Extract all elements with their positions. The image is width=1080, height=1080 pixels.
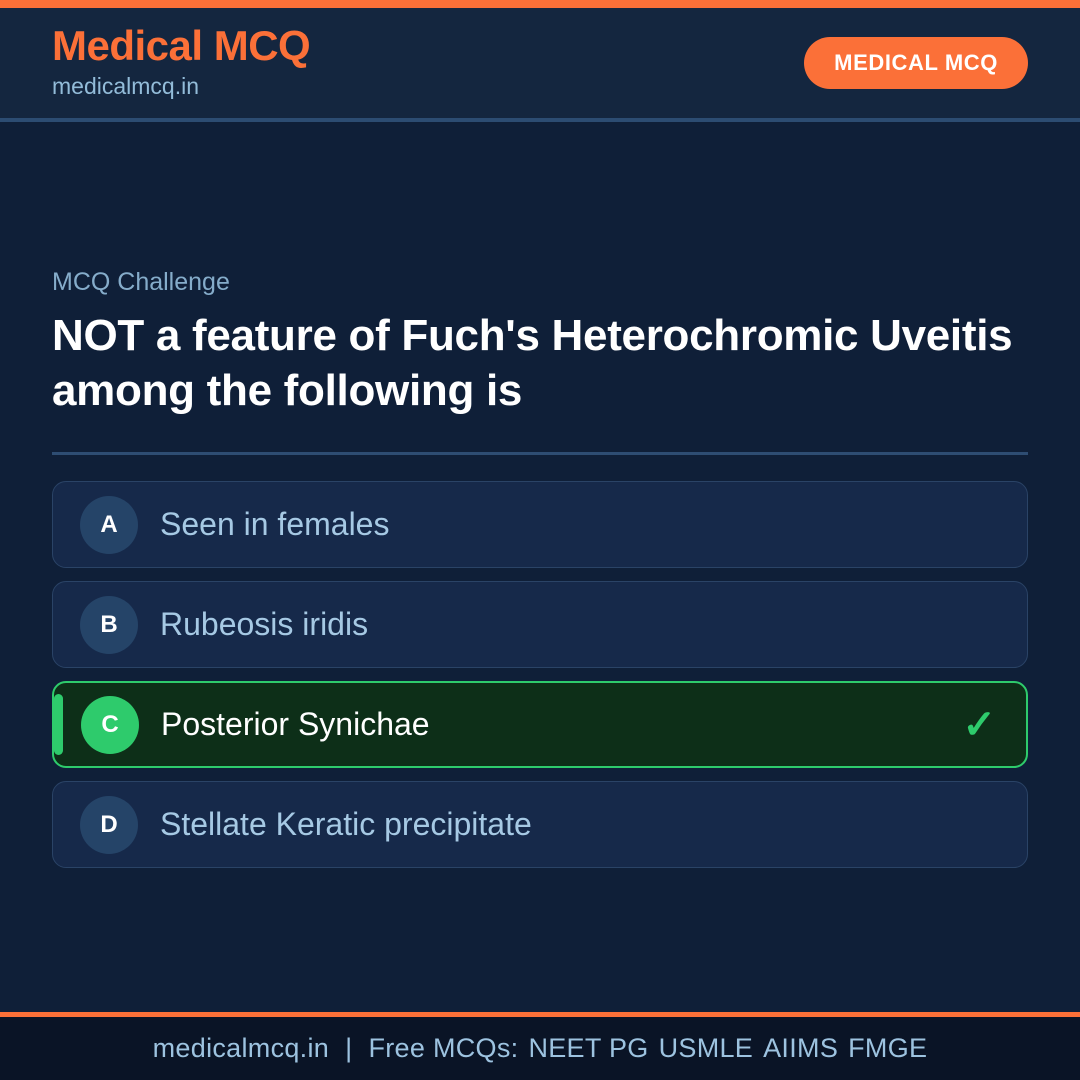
question-text: NOT a feature of Fuch's Heterochromic Uv… — [52, 309, 1027, 418]
option-c[interactable]: C Posterior Synichae ✓ — [52, 681, 1028, 768]
option-b-letter: B — [80, 596, 138, 654]
brand-block: Medical MCQ medicalmcq.in — [52, 25, 310, 101]
option-d[interactable]: D Stellate Keratic precipitate — [52, 781, 1028, 868]
brand-title: Medical MCQ — [52, 25, 310, 68]
page-header: Medical MCQ medicalmcq.in MEDICAL MCQ — [0, 8, 1080, 122]
footer-exam-fmge: FMGE — [838, 1033, 927, 1063]
footer-text: medicalmcq.in|Free MCQs:NEET PGUSMLEAIIM… — [153, 1033, 928, 1064]
option-a-letter: A — [80, 496, 138, 554]
footer-label: Free MCQs: — [368, 1033, 518, 1063]
options-list: A Seen in females B Rubeosis iridis C Po… — [52, 481, 1028, 868]
question-eyebrow: MCQ Challenge — [52, 267, 1028, 297]
footer-exam-neetpg: NEET PG — [518, 1033, 648, 1063]
footer-site: medicalmcq.in — [153, 1033, 329, 1063]
option-b[interactable]: B Rubeosis iridis — [52, 581, 1028, 668]
question-divider — [52, 452, 1028, 455]
footer-exam-aiims: AIIMS — [753, 1033, 838, 1063]
footer-exam-usmle: USMLE — [649, 1033, 754, 1063]
top-accent-bar — [0, 0, 1080, 8]
option-a[interactable]: A Seen in females — [52, 481, 1028, 568]
option-c-letter: C — [81, 696, 139, 754]
option-b-text: Rubeosis iridis — [160, 607, 997, 642]
option-d-text: Stellate Keratic precipitate — [160, 807, 997, 842]
option-d-letter: D — [80, 796, 138, 854]
mcq-card: Medical MCQ medicalmcq.in MEDICAL MCQ MC… — [0, 0, 1080, 1080]
correct-accent-bar — [54, 694, 63, 755]
brand-subtitle: medicalmcq.in — [52, 72, 310, 101]
footer-separator: | — [329, 1033, 368, 1063]
option-a-text: Seen in females — [160, 507, 997, 542]
check-icon: ✓ — [962, 705, 996, 745]
option-c-text: Posterior Synichae — [161, 707, 962, 742]
brand-badge: MEDICAL MCQ — [804, 37, 1028, 89]
question-block: MCQ Challenge NOT a feature of Fuch's He… — [52, 267, 1028, 418]
page-footer: medicalmcq.in|Free MCQs:NEET PGUSMLEAIIM… — [0, 1012, 1080, 1080]
main-content: MCQ Challenge NOT a feature of Fuch's He… — [0, 122, 1080, 1012]
